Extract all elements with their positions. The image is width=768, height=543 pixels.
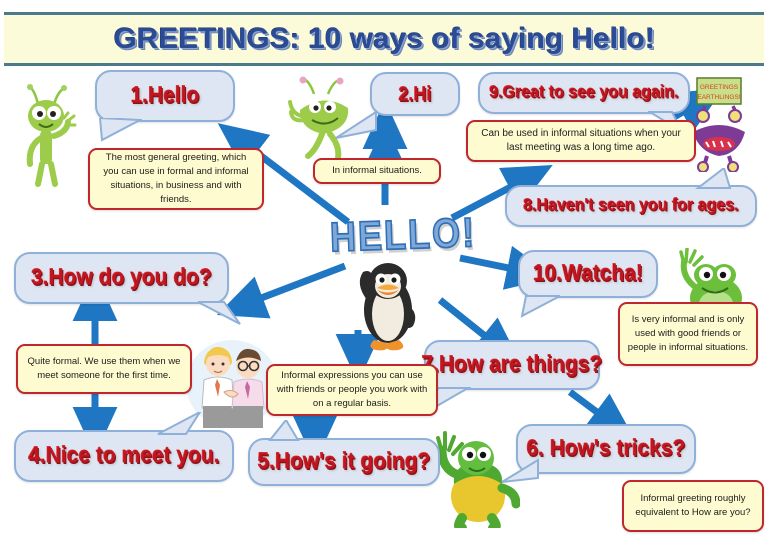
svg-text:GREETINGS: GREETINGS (700, 84, 739, 91)
penguin-waving-art (341, 248, 433, 353)
greeting-label-3: 3.How do you do? (31, 265, 212, 292)
bubble-tail-2 (334, 110, 378, 140)
greeting-label-5: 5.How's it going? (258, 449, 431, 476)
bubble-tail-1 (96, 118, 142, 142)
explanation-note-hello: The most general greeting, which you can… (88, 148, 264, 210)
greeting-bubble-6[interactable]: 6. How's tricks? (516, 424, 696, 474)
bubble-tail-6 (500, 458, 540, 484)
bubble-tail-10 (520, 294, 562, 318)
greeting-bubble-5[interactable]: 5.How's it going? (248, 438, 440, 486)
explanation-note-informal: Informal expressions you can use with fr… (266, 364, 438, 416)
greeting-label-2: 2.Hi (398, 82, 431, 106)
greeting-label-8: 8.Haven't seen you for ages. (523, 196, 738, 216)
greeting-label-7: 7.How are things? (422, 352, 603, 379)
greeting-bubble-10[interactable]: 10.Watcha! (518, 250, 658, 298)
infographic-canvas: GREETINGS: 10 ways of saying Hello! (0, 0, 768, 543)
bubble-tail-4 (156, 412, 206, 436)
explanation-note-watcha: Is very informal and is only used with g… (618, 302, 758, 366)
bubble-tail-5 (268, 420, 312, 442)
greeting-label-6: 6. How's tricks? (526, 436, 685, 463)
greeting-label-9: 9.Great to see you again. (489, 83, 678, 103)
explanation-note-tricks: Informal greeting roughly equivalent to … (622, 480, 764, 532)
greeting-bubble-8[interactable]: 8.Haven't seen you for ages. (505, 185, 757, 227)
page-title: GREETINGS: 10 ways of saying Hello! (113, 23, 654, 56)
greeting-bubble-4[interactable]: 4.Nice to meet you. (14, 430, 234, 482)
alien-green-waving-art (14, 82, 84, 187)
greeting-bubble-7[interactable]: 7.How are things? (424, 340, 600, 390)
greeting-label-4: 4.Nice to meet you. (28, 443, 219, 470)
greeting-bubble-1[interactable]: 1.Hello (95, 70, 235, 122)
explanation-note-formal: Quite formal. We use them when we meet s… (16, 344, 192, 394)
title-banner: GREETINGS: 10 ways of saying Hello! (4, 12, 764, 66)
explanation-note-again: Can be used in informal situations when … (466, 120, 696, 162)
greeting-label-1: 1.Hello (131, 83, 200, 110)
svg-text:EARTHLINGS!: EARTHLINGS! (697, 94, 740, 101)
greeting-bubble-3[interactable]: 3.How do you do? (14, 252, 229, 304)
bubble-tail-8 (694, 168, 734, 190)
greeting-label-10: 10.Watcha! (533, 261, 643, 288)
greeting-bubble-9[interactable]: 9.Great to see you again. (478, 72, 690, 114)
greeting-bubble-2[interactable]: 2.Hi (370, 72, 460, 116)
bubble-tail-3 (196, 300, 244, 326)
explanation-note-hi: In informal situations. (313, 158, 441, 184)
